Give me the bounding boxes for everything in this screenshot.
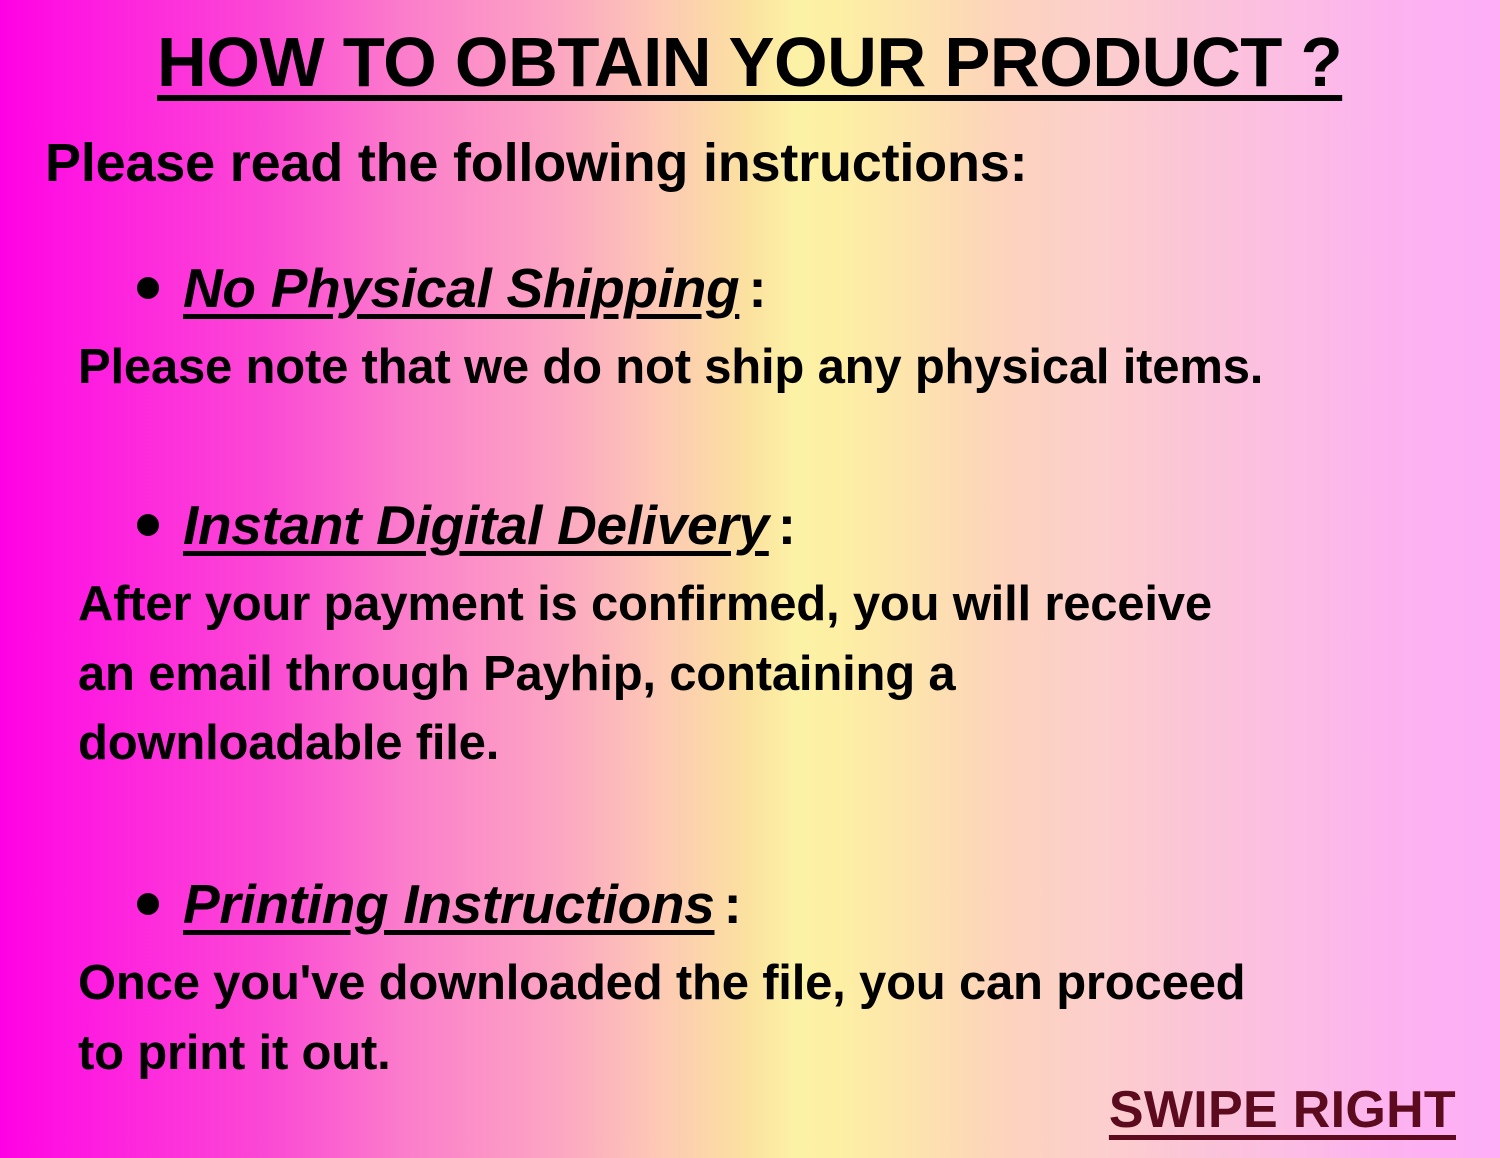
bullet-dot-icon xyxy=(137,277,159,299)
section-body: After your payment is confirmed, you wil… xyxy=(0,570,1500,779)
swipe-right-cta[interactable]: SWIPE RIGHT xyxy=(1109,1084,1456,1136)
body-line: Once you've downloaded the file, you can… xyxy=(78,949,1460,1019)
section-instant-digital-delivery: Instant Digital Delivery: After your pay… xyxy=(0,486,1500,779)
body-line: Please note that we do not ship any phys… xyxy=(78,333,1460,403)
bullet-dot-icon xyxy=(137,893,159,915)
body-line: an email through Payhip, containing a xyxy=(78,640,1460,710)
page-title: HOW TO OBTAIN YOUR PRODUCT ? xyxy=(0,26,1500,99)
section-heading-colon: : xyxy=(739,257,766,319)
section-printing-instructions: Printing Instructions: Once you've downl… xyxy=(0,865,1500,1088)
section-heading: Instant Digital Delivery: xyxy=(183,498,796,553)
section-heading: Printing Instructions: xyxy=(183,877,742,932)
body-line: downloadable file. xyxy=(78,709,1460,779)
poster-content: HOW TO OBTAIN YOUR PRODUCT ? Please read… xyxy=(0,0,1500,1158)
section-heading-label: No Physical Shipping xyxy=(183,257,739,319)
section-heading-label: Instant Digital Delivery xyxy=(183,494,769,556)
section-no-physical-shipping: No Physical Shipping: Please note that w… xyxy=(0,249,1500,403)
section-heading-row: Instant Digital Delivery: xyxy=(0,486,1500,564)
bullet-dot-icon xyxy=(137,514,159,536)
body-line: After your payment is confirmed, you wil… xyxy=(78,570,1460,640)
section-body: Please note that we do not ship any phys… xyxy=(0,333,1500,403)
section-heading-row: No Physical Shipping: xyxy=(0,249,1500,327)
section-heading-row: Printing Instructions: xyxy=(0,865,1500,943)
section-heading: No Physical Shipping: xyxy=(183,261,766,316)
instructions-subheading: Please read the following instructions: xyxy=(45,134,1027,192)
body-line: to print it out. xyxy=(78,1019,1460,1089)
instructions-poster: HOW TO OBTAIN YOUR PRODUCT ? Please read… xyxy=(0,0,1500,1158)
section-heading-colon: : xyxy=(714,873,741,935)
page-title-text: HOW TO OBTAIN YOUR PRODUCT ? xyxy=(157,26,1342,99)
section-heading-colon: : xyxy=(769,494,796,556)
section-heading-label: Printing Instructions xyxy=(183,873,714,935)
section-body: Once you've downloaded the file, you can… xyxy=(0,949,1500,1088)
